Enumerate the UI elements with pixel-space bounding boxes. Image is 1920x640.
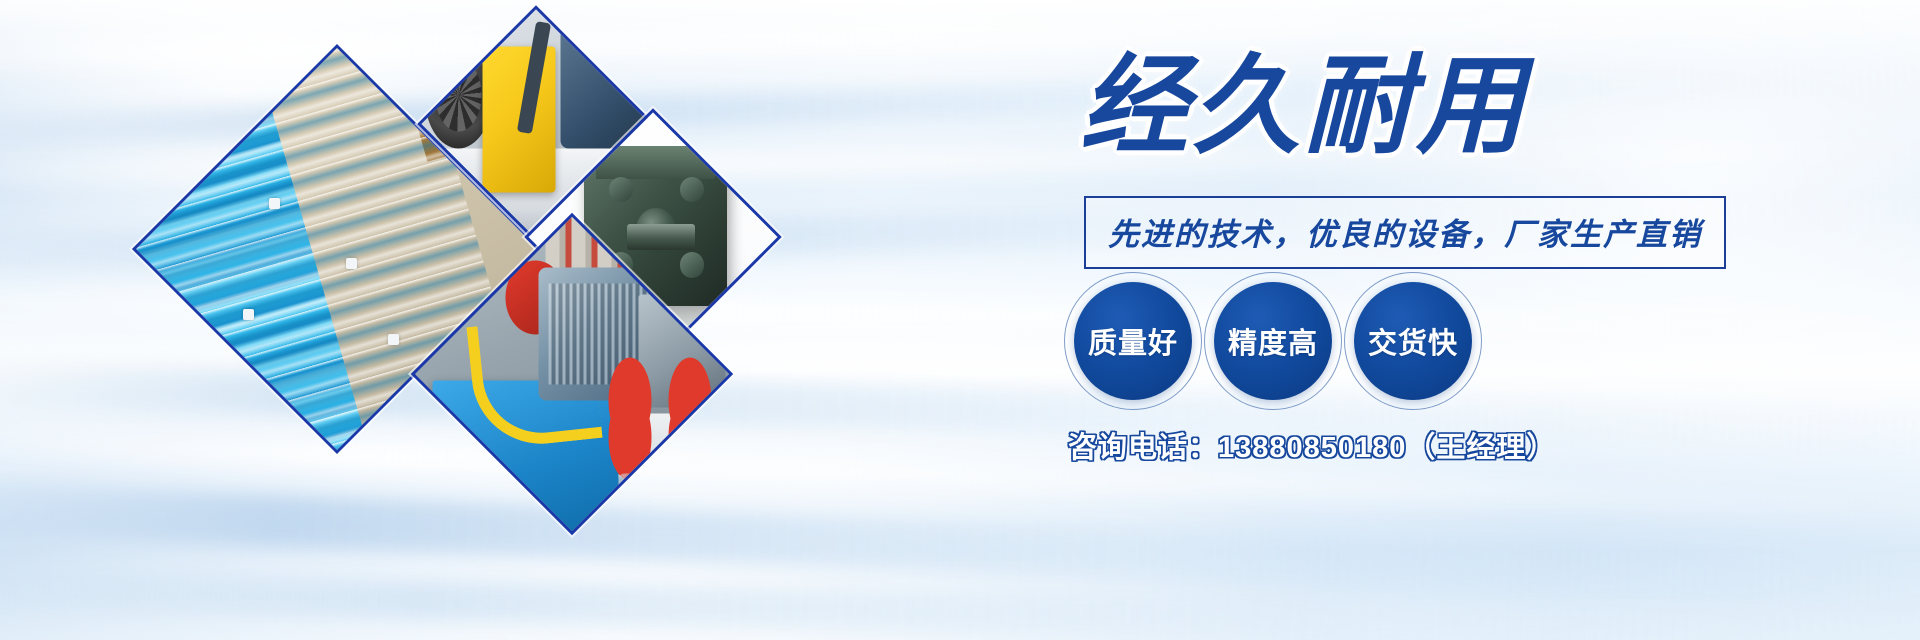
feature-badge-label: 精度高 — [1228, 320, 1318, 362]
promo-banner: 经久耐用 先进的技术，优良的设备，厂家生产直销 质量好 精度高 交货快 咨询电话… — [0, 0, 1920, 640]
diamond-photo-collage — [170, 18, 850, 628]
feature-badge-delivery[interactable]: 交货快 — [1354, 282, 1472, 400]
feature-badge-label: 质量好 — [1088, 320, 1178, 362]
subtitle-text: 先进的技术，优良的设备，厂家生产直销 — [1108, 209, 1702, 254]
contact-phone-line[interactable]: 咨询电话：13880850180（王经理） — [1068, 424, 1556, 466]
feature-badge-quality[interactable]: 质量好 — [1074, 282, 1192, 400]
headline: 经久耐用 — [1080, 52, 1528, 160]
banner-copy-block: 经久耐用 先进的技术，优良的设备，厂家生产直销 质量好 精度高 交货快 咨询电话… — [1060, 0, 1760, 640]
feature-badge-precision[interactable]: 精度高 — [1214, 282, 1332, 400]
feature-badge-group: 质量好 精度高 交货快 — [1074, 282, 1472, 400]
feature-badge-label: 交货快 — [1368, 320, 1458, 362]
subtitle-box: 先进的技术，优良的设备，厂家生产直销 — [1084, 196, 1726, 269]
